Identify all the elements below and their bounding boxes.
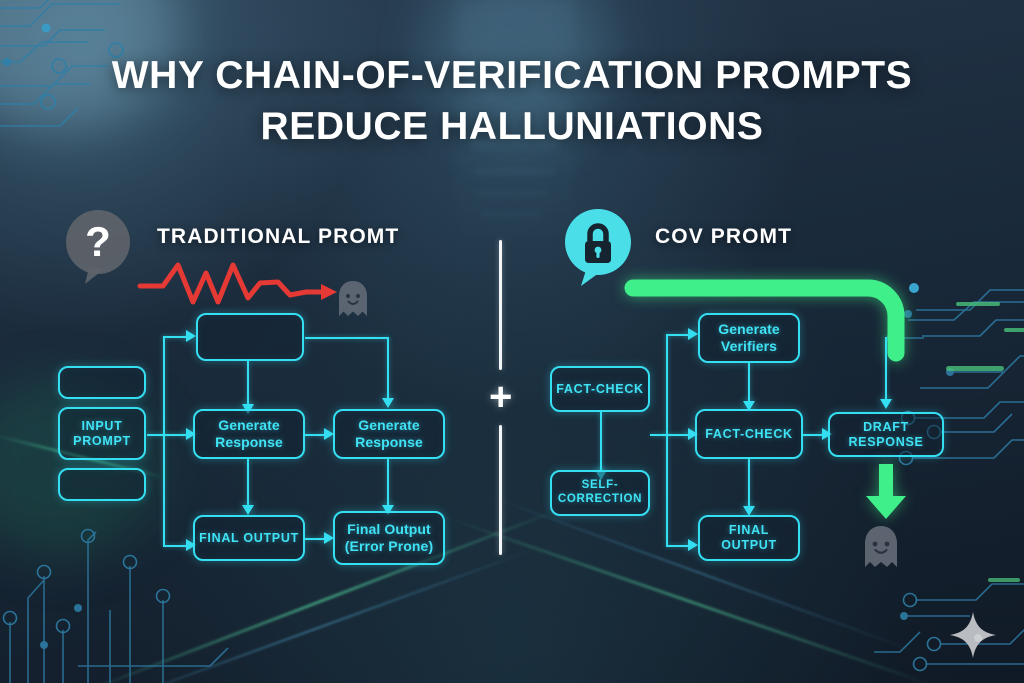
node-generate-verifiers-line1: Generate [718, 321, 780, 338]
page-title: WHY CHAIN-OF-VERIFICATION PROMPTS REDUCE… [0, 50, 1024, 153]
server-pillar [480, 212, 542, 220]
node-fact-check-2[interactable]: FACT-CHECK [695, 409, 803, 459]
node-self-correction[interactable]: SELF-CORRECTION [550, 470, 650, 516]
green-down-arrow [861, 462, 911, 522]
node-final-output-error-prone[interactable]: Final Output (Error Prone) [333, 511, 445, 565]
connector-vertical [387, 459, 389, 507]
node-fact-check-1[interactable]: FACT-CHECK [550, 366, 650, 412]
node-final-output-error-line2: (Error Prone) [345, 538, 433, 555]
connector-horizontal [163, 545, 188, 547]
ghost-icon [337, 280, 369, 318]
node-generate-response-2[interactable]: Generate Response [333, 409, 445, 459]
connector-horizontal [305, 337, 353, 339]
node-input-prompt[interactable]: INPUT PROMPT [58, 407, 146, 460]
connector-horizontal [666, 334, 690, 336]
center-divider-top [499, 240, 502, 370]
arrow-down [242, 505, 254, 515]
node-top-blank[interactable] [196, 313, 304, 361]
connector-horizontal [304, 434, 326, 436]
connector-vertical [247, 459, 249, 507]
light-streak [77, 507, 564, 683]
connector-vertical [666, 334, 668, 545]
left-section-header: TRADITIONAL PROMT [157, 225, 399, 249]
connector-vertical [748, 363, 750, 404]
connector-vertical [748, 459, 750, 509]
connector-vertical [600, 412, 602, 479]
node-draft-response[interactable]: DRAFT RESPONSE [828, 412, 944, 457]
connector-horizontal [147, 434, 187, 436]
infographic-canvas: WHY CHAIN-OF-VERIFICATION PROMPTS REDUCE… [0, 0, 1024, 683]
node-generate-verifiers[interactable]: Generate Verifiers [698, 313, 800, 363]
node-input-prompt-line1: INPUT [82, 419, 123, 434]
node-input-prompt-line2: PROMPT [73, 434, 131, 449]
arrow-right [688, 539, 698, 551]
title-line-1: WHY CHAIN-OF-VERIFICATION PROMPTS [0, 50, 1024, 101]
node-input-below-blank[interactable] [58, 468, 146, 501]
node-input-above-blank[interactable] [58, 366, 146, 399]
arrow-down [880, 399, 892, 409]
svg-text:?: ? [85, 218, 111, 265]
connector-horizontal [304, 538, 326, 540]
center-divider-bottom [499, 425, 502, 555]
node-final-output-right[interactable]: FINAL OUTPUT [698, 515, 800, 561]
lock-speech-bubble-icon [561, 209, 635, 287]
connector-vertical [247, 361, 249, 406]
connector-horizontal [666, 545, 690, 547]
red-squiggle-arrow [138, 258, 343, 308]
connector-vertical [163, 336, 165, 545]
right-section-header: COV PROMT [655, 225, 792, 249]
node-final-output[interactable]: FINAL OUTPUT [193, 515, 305, 561]
question-speech-bubble-icon: ? [63, 209, 135, 285]
arrow-right [186, 330, 196, 342]
connector-horizontal [163, 336, 188, 338]
node-generate-verifiers-line2: Verifiers [721, 338, 777, 355]
connector-vertical [387, 337, 389, 399]
arrow-right [688, 328, 698, 340]
node-generate-response-1[interactable]: Generate Response [193, 409, 305, 459]
circuit-traces-bottom-left [0, 480, 300, 683]
arrow-down [382, 398, 394, 408]
server-pillar [474, 168, 554, 178]
ghost-icon [862, 525, 900, 569]
connector-horizontal [650, 434, 690, 436]
four-point-star-icon [948, 610, 998, 660]
server-pillar [478, 190, 548, 198]
plus-symbol: + [489, 377, 512, 417]
node-final-output-error-line1: Final Output [347, 521, 431, 538]
connector-vertical [885, 337, 887, 402]
connector-horizontal [353, 337, 389, 339]
light-streak [94, 548, 536, 683]
title-line-2: REDUCE HALLUNIATIONS [0, 101, 1024, 152]
